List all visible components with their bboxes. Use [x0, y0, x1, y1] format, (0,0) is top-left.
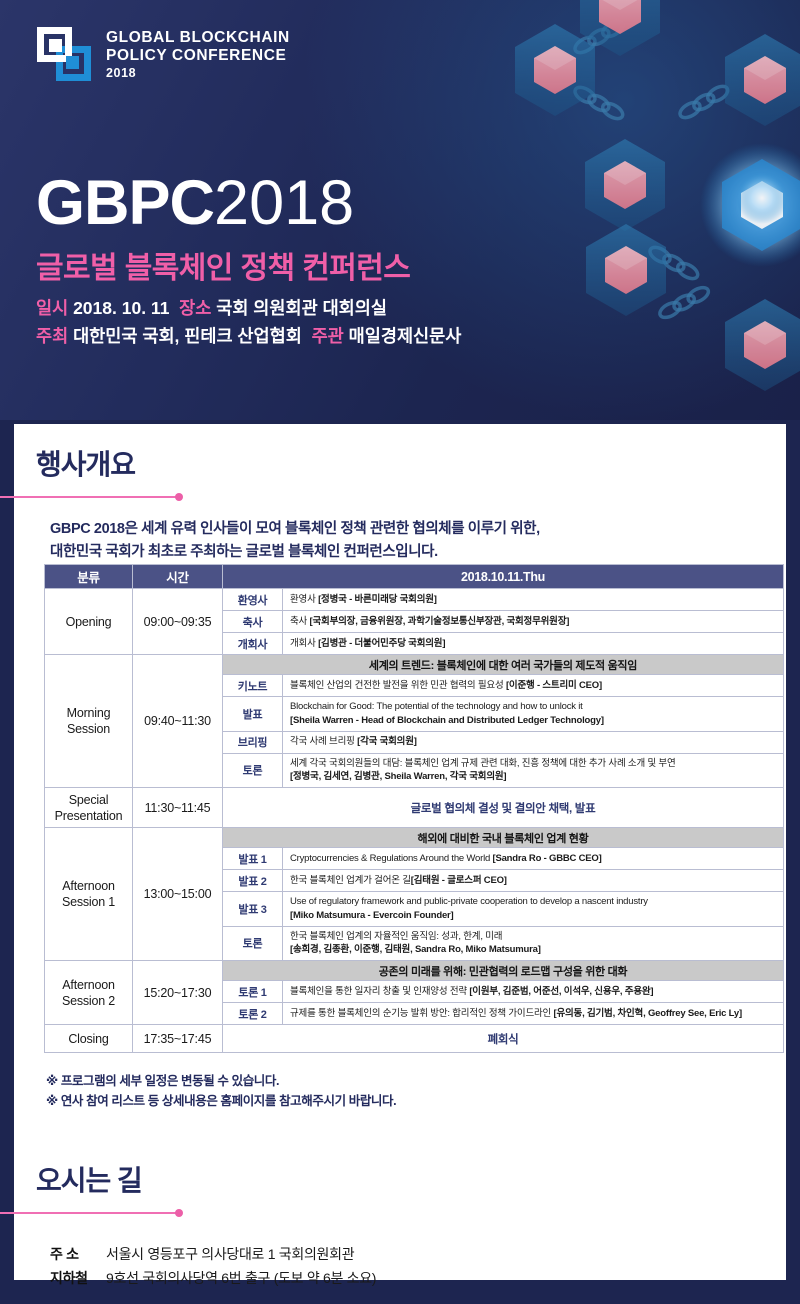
content-card: 행사개요 GBPC 2018은 세계 유력 인사들이 모여 블록체인 정책 관련…: [14, 424, 786, 1280]
header-time: 시간: [133, 565, 223, 589]
cell-tag: 브리핑: [223, 731, 283, 753]
cell-time-opening: 09:00~09:35: [133, 589, 223, 655]
schedule-table: 분류 시간 2018.10.11.Thu Opening 09:00~09:35…: [44, 564, 784, 1053]
cell-tag: 토론: [223, 926, 283, 961]
hero-meta-row-1: 일시 2018. 10. 11 장소 국회 의원회관 대회의실: [36, 294, 461, 322]
table-row: AfternoonSession 2 15:20~17:30 공존의 미래를 위…: [45, 961, 784, 981]
hero-title-group: GBPC2018 글로벌 블록체인 정책 컨퍼런스: [36, 172, 410, 287]
hero-subtitle: 글로벌 블록체인 정책 컨퍼런스: [36, 243, 410, 287]
cell-category-opening: Opening: [45, 589, 133, 655]
meta-key-organizer: 주관: [312, 326, 344, 346]
cell-tag: 발표 1: [223, 848, 283, 870]
subway-row: 지하철9호선 국회의사당역 6번 출구 (도보 약 6분 소요): [50, 1266, 376, 1290]
cell-desc: 블록체인 산업의 건전한 발전을 위한 민관 협력의 필요성 [이준행 - 스트…: [283, 675, 784, 697]
meta-value-venue: 국회 의원회관 대회의실: [216, 298, 387, 318]
brand-line-3: 2018: [106, 66, 290, 80]
table-row: Closing 17:35~17:45 폐회식: [45, 1025, 784, 1053]
meta-value-date: 2018. 10. 11: [73, 298, 169, 318]
cell-tag: 토론 1: [223, 981, 283, 1003]
cell-tag: 발표 3: [223, 892, 283, 927]
cell-desc: 한국 블록체인 업계의 자율적인 움직임: 성과, 한계, 미래[송희경, 김종…: [283, 926, 784, 961]
hero-meta: 일시 2018. 10. 11 장소 국회 의원회관 대회의실 주최 대한민국 …: [36, 294, 461, 351]
table-row: Opening 09:00~09:35 환영사 환영사 [정병국 - 바른미래당…: [45, 589, 784, 611]
brand-line-1: GLOBAL BLOCKCHAIN: [106, 29, 290, 46]
address-value: 서울시 영등포구 의사당대로 1 국회의원회관: [106, 1246, 354, 1262]
subway-label: 지하철: [50, 1266, 106, 1290]
cell-time-afternoon1: 13:00~15:00: [133, 828, 223, 961]
cell-tag: 토론: [223, 753, 283, 788]
brand-logo-text: GLOBAL BLOCKCHAIN POLICY CONFERENCE 2018: [106, 29, 290, 80]
meta-key-venue: 장소: [179, 298, 211, 318]
cell-category-afternoon2: AfternoonSession 2: [45, 961, 133, 1025]
overview-intro: GBPC 2018은 세계 유력 인사들이 모여 블록체인 정책 관련한 협의체…: [50, 518, 540, 564]
cell-banner: 해외에 대비한 국내 블록체인 업계 현황: [223, 828, 784, 848]
cell-banner: 세계의 트렌드: 블록체인에 대한 여러 국가들의 제도적 움직임: [223, 655, 784, 675]
cell-desc: 세계 각국 국회의원들의 대담: 블록체인 업계 규제 관련 대화, 진흥 정책…: [283, 753, 784, 788]
brand-logo: GLOBAL BLOCKCHAIN POLICY CONFERENCE 2018: [36, 26, 290, 83]
cell-desc: 블록체인을 통한 일자리 창출 및 인재양성 전략 [이원부, 김준범, 어준선…: [283, 981, 784, 1003]
meta-value-host: 대한민국 국회, 핀테크 산업협회: [73, 326, 302, 346]
cell-desc: Use of regulatory framework and public-p…: [283, 892, 784, 927]
meta-value-organizer: 매일경제신문사: [349, 326, 462, 346]
cell-desc: 각국 사례 브리핑 [각국 국회의원]: [283, 731, 784, 753]
hero-banner: GLOBAL BLOCKCHAIN POLICY CONFERENCE 2018…: [0, 0, 800, 420]
cell-desc: 축사 [국회부의장, 금융위원장, 과학기술정보통신부장관, 국회정무위원장]: [283, 611, 784, 633]
note-line-2: ※ 연사 참여 리스트 등 상세내용은 홈페이지를 참고해주시기 바랍니다.: [46, 1092, 396, 1112]
hero-meta-row-2: 주최 대한민국 국회, 핀테크 산업협회 주관 매일경제신문사: [36, 322, 461, 350]
table-row: MorningSession 09:40~11:30 세계의 트렌드: 블록체인…: [45, 655, 784, 675]
cell-category-afternoon1: AfternoonSession 1: [45, 828, 133, 961]
meta-key-date: 일시: [36, 298, 68, 318]
overview-heading: 행사개요: [36, 450, 786, 481]
meta-key-host: 주최: [36, 326, 68, 346]
cell-desc: 규제를 통한 블록체인의 순기능 발휘 방안: 합리적인 정책 가이드라인 [유…: [283, 1003, 784, 1025]
directions-accent-line: [0, 1212, 179, 1214]
overview-section-header: 행사개요: [14, 424, 786, 481]
hero-title-year: 2018: [214, 168, 354, 238]
cell-time-closing: 17:35~17:45: [133, 1025, 223, 1053]
cell-time-afternoon2: 15:20~17:30: [133, 961, 223, 1025]
cell-desc: Blockchain for Good: The potential of th…: [283, 697, 784, 732]
note-line-1: ※ 프로그램의 세부 일정은 변동될 수 있습니다.: [46, 1072, 396, 1092]
program-notes: ※ 프로그램의 세부 일정은 변동될 수 있습니다. ※ 연사 참여 리스트 등…: [46, 1072, 396, 1112]
overview-intro-line-1: GBPC 2018은 세계 유력 인사들이 모여 블록체인 정책 관련한 협의체…: [50, 518, 540, 541]
cell-desc: 한국 블록체인 업계가 걸어온 길[김태원 - 글로스퍼 CEO]: [283, 870, 784, 892]
cell-tag: 개회사: [223, 633, 283, 655]
overview-intro-line-2: 대한민국 국회가 최초로 주최하는 글로벌 블록체인 컨퍼런스입니다.: [50, 541, 540, 564]
cell-desc: 개회사 [김병관 - 더불어민주당 국회의원]: [283, 633, 784, 655]
hero-title-main: GBPC: [36, 168, 214, 238]
cell-tag: 토론 2: [223, 1003, 283, 1025]
brand-line-2: POLICY CONFERENCE: [106, 47, 290, 64]
cell-desc: 환영사 [정병국 - 바른미래당 국회의원]: [283, 589, 784, 611]
header-date: 2018.10.11.Thu: [223, 565, 784, 589]
cell-time-special: 11:30~11:45: [133, 788, 223, 828]
table-row: AfternoonSession 1 13:00~15:00 해외에 대비한 국…: [45, 828, 784, 848]
cell-time-morning: 09:40~11:30: [133, 655, 223, 788]
cell-category-special: SpecialPresentation: [45, 788, 133, 828]
cell-tag: 환영사: [223, 589, 283, 611]
overview-accent-line: [0, 496, 179, 498]
schedule-header-row: 분류 시간 2018.10.11.Thu: [45, 565, 784, 589]
cell-tag: 축사: [223, 611, 283, 633]
header-category: 분류: [45, 565, 133, 589]
address-label: 주 소: [50, 1242, 106, 1266]
directions-heading: 오시는 길: [36, 1166, 786, 1197]
cell-note: 폐회식: [223, 1025, 784, 1053]
cell-desc: Cryptocurrencies & Regulations Around th…: [283, 848, 784, 870]
directions-section-header: 오시는 길: [14, 1166, 786, 1197]
cell-tag: 발표: [223, 697, 283, 732]
cell-tag: 키노트: [223, 675, 283, 697]
directions-details: 주 소서울시 영등포구 의사당대로 1 국회의원회관 지하철9호선 국회의사당역…: [50, 1242, 376, 1290]
interlocking-squares-logo-icon: [36, 26, 93, 83]
table-row: SpecialPresentation 11:30~11:45 글로벌 협의체 …: [45, 788, 784, 828]
subway-value: 9호선 국회의사당역 6번 출구 (도보 약 6분 소요): [106, 1270, 376, 1286]
cell-banner: 공존의 미래를 위해: 민관협력의 로드맵 구성을 위한 대화: [223, 961, 784, 981]
cell-category-closing: Closing: [45, 1025, 133, 1053]
hero-title: GBPC2018: [36, 172, 410, 235]
cell-tag: 발표 2: [223, 870, 283, 892]
address-row: 주 소서울시 영등포구 의사당대로 1 국회의원회관: [50, 1242, 376, 1266]
cell-category-morning: MorningSession: [45, 655, 133, 788]
cell-note: 글로벌 협의체 결성 및 결의안 채택, 발표: [223, 788, 784, 828]
